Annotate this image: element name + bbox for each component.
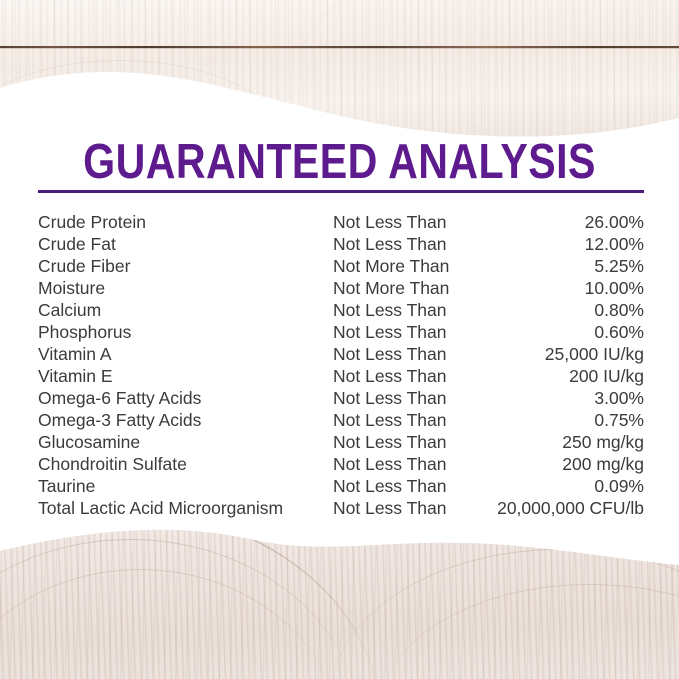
nutrient-qualifier: Not Less Than xyxy=(333,497,483,519)
table-row: Vitamin E Not Less Than 200 IU/kg xyxy=(38,365,644,387)
nutrient-qualifier: Not Less Than xyxy=(333,431,483,453)
nutrient-qualifier: Not Less Than xyxy=(333,453,483,475)
table-row: Crude Fiber Not More Than 5.25% xyxy=(38,255,644,277)
nutrient-value: 3.00% xyxy=(483,387,644,409)
nutrient-value: 25,000 IU/kg xyxy=(483,343,644,365)
nutrient-qualifier: Not Less Than xyxy=(333,343,483,365)
nutrient-qualifier: Not Less Than xyxy=(333,299,483,321)
table-row: Crude Protein Not Less Than 26.00% xyxy=(38,211,644,233)
nutrient-name: Chondroitin Sulfate xyxy=(38,453,333,475)
nutrient-value: 12.00% xyxy=(483,233,644,255)
nutrient-value: 200 IU/kg xyxy=(483,365,644,387)
nutrient-qualifier: Not More Than xyxy=(333,277,483,299)
table-row: Taurine Not Less Than 0.09% xyxy=(38,475,644,497)
table-row: Total Lactic Acid Microorganism Not Less… xyxy=(38,497,644,519)
nutrient-name: Taurine xyxy=(38,475,333,497)
guaranteed-analysis-table: Crude Protein Not Less Than 26.00% Crude… xyxy=(38,211,644,519)
nutrient-name: Total Lactic Acid Microorganism xyxy=(38,497,333,519)
nutrient-value: 250 mg/kg xyxy=(483,431,644,453)
title-underline-rule xyxy=(38,190,644,193)
nutrient-value: 26.00% xyxy=(483,211,644,233)
nutrient-value: 0.60% xyxy=(483,321,644,343)
nutrient-name: Calcium xyxy=(38,299,333,321)
nutrient-qualifier: Not Less Than xyxy=(333,321,483,343)
nutrient-name: Moisture xyxy=(38,277,333,299)
nutrient-qualifier: Not Less Than xyxy=(333,387,483,409)
nutrient-name: Crude Fiber xyxy=(38,255,333,277)
nutrient-value: 0.09% xyxy=(483,475,644,497)
table-row: Vitamin A Not Less Than 25,000 IU/kg xyxy=(38,343,644,365)
nutrient-qualifier: Not Less Than xyxy=(333,233,483,255)
nutrient-value: 10.00% xyxy=(483,277,644,299)
nutrient-value: 20,000,000 CFU/lb xyxy=(483,497,644,519)
nutrient-qualifier: Not Less Than xyxy=(333,365,483,387)
guaranteed-analysis-panel: GUARANTEED ANALYSIS Crude Protein Not Le… xyxy=(0,0,679,679)
nutrient-value: 5.25% xyxy=(483,255,644,277)
nutrient-name: Omega-3 Fatty Acids xyxy=(38,409,333,431)
nutrient-name: Omega-6 Fatty Acids xyxy=(38,387,333,409)
nutrient-value: 0.75% xyxy=(483,409,644,431)
nutrient-qualifier: Not Less Than xyxy=(333,409,483,431)
table-row: Phosphorus Not Less Than 0.60% xyxy=(38,321,644,343)
nutrient-value: 0.80% xyxy=(483,299,644,321)
nutrient-name: Crude Protein xyxy=(38,211,333,233)
page-title: GUARANTEED ANALYSIS xyxy=(54,138,624,187)
nutrient-qualifier: Not More Than xyxy=(333,255,483,277)
nutrient-name: Crude Fat xyxy=(38,233,333,255)
nutrient-name: Phosphorus xyxy=(38,321,333,343)
table-row: Omega-3 Fatty Acids Not Less Than 0.75% xyxy=(38,409,644,431)
table-row: Chondroitin Sulfate Not Less Than 200 mg… xyxy=(38,453,644,475)
table-row: Glucosamine Not Less Than 250 mg/kg xyxy=(38,431,644,453)
nutrient-name: Glucosamine xyxy=(38,431,333,453)
analysis-content: GUARANTEED ANALYSIS Crude Protein Not Le… xyxy=(0,0,679,679)
nutrient-value: 200 mg/kg xyxy=(483,453,644,475)
table-row: Moisture Not More Than 10.00% xyxy=(38,277,644,299)
nutrient-qualifier: Not Less Than xyxy=(333,211,483,233)
table-row: Calcium Not Less Than 0.80% xyxy=(38,299,644,321)
table-row: Crude Fat Not Less Than 12.00% xyxy=(38,233,644,255)
nutrient-qualifier: Not Less Than xyxy=(333,475,483,497)
nutrient-name: Vitamin E xyxy=(38,365,333,387)
table-row: Omega-6 Fatty Acids Not Less Than 3.00% xyxy=(38,387,644,409)
nutrient-name: Vitamin A xyxy=(38,343,333,365)
